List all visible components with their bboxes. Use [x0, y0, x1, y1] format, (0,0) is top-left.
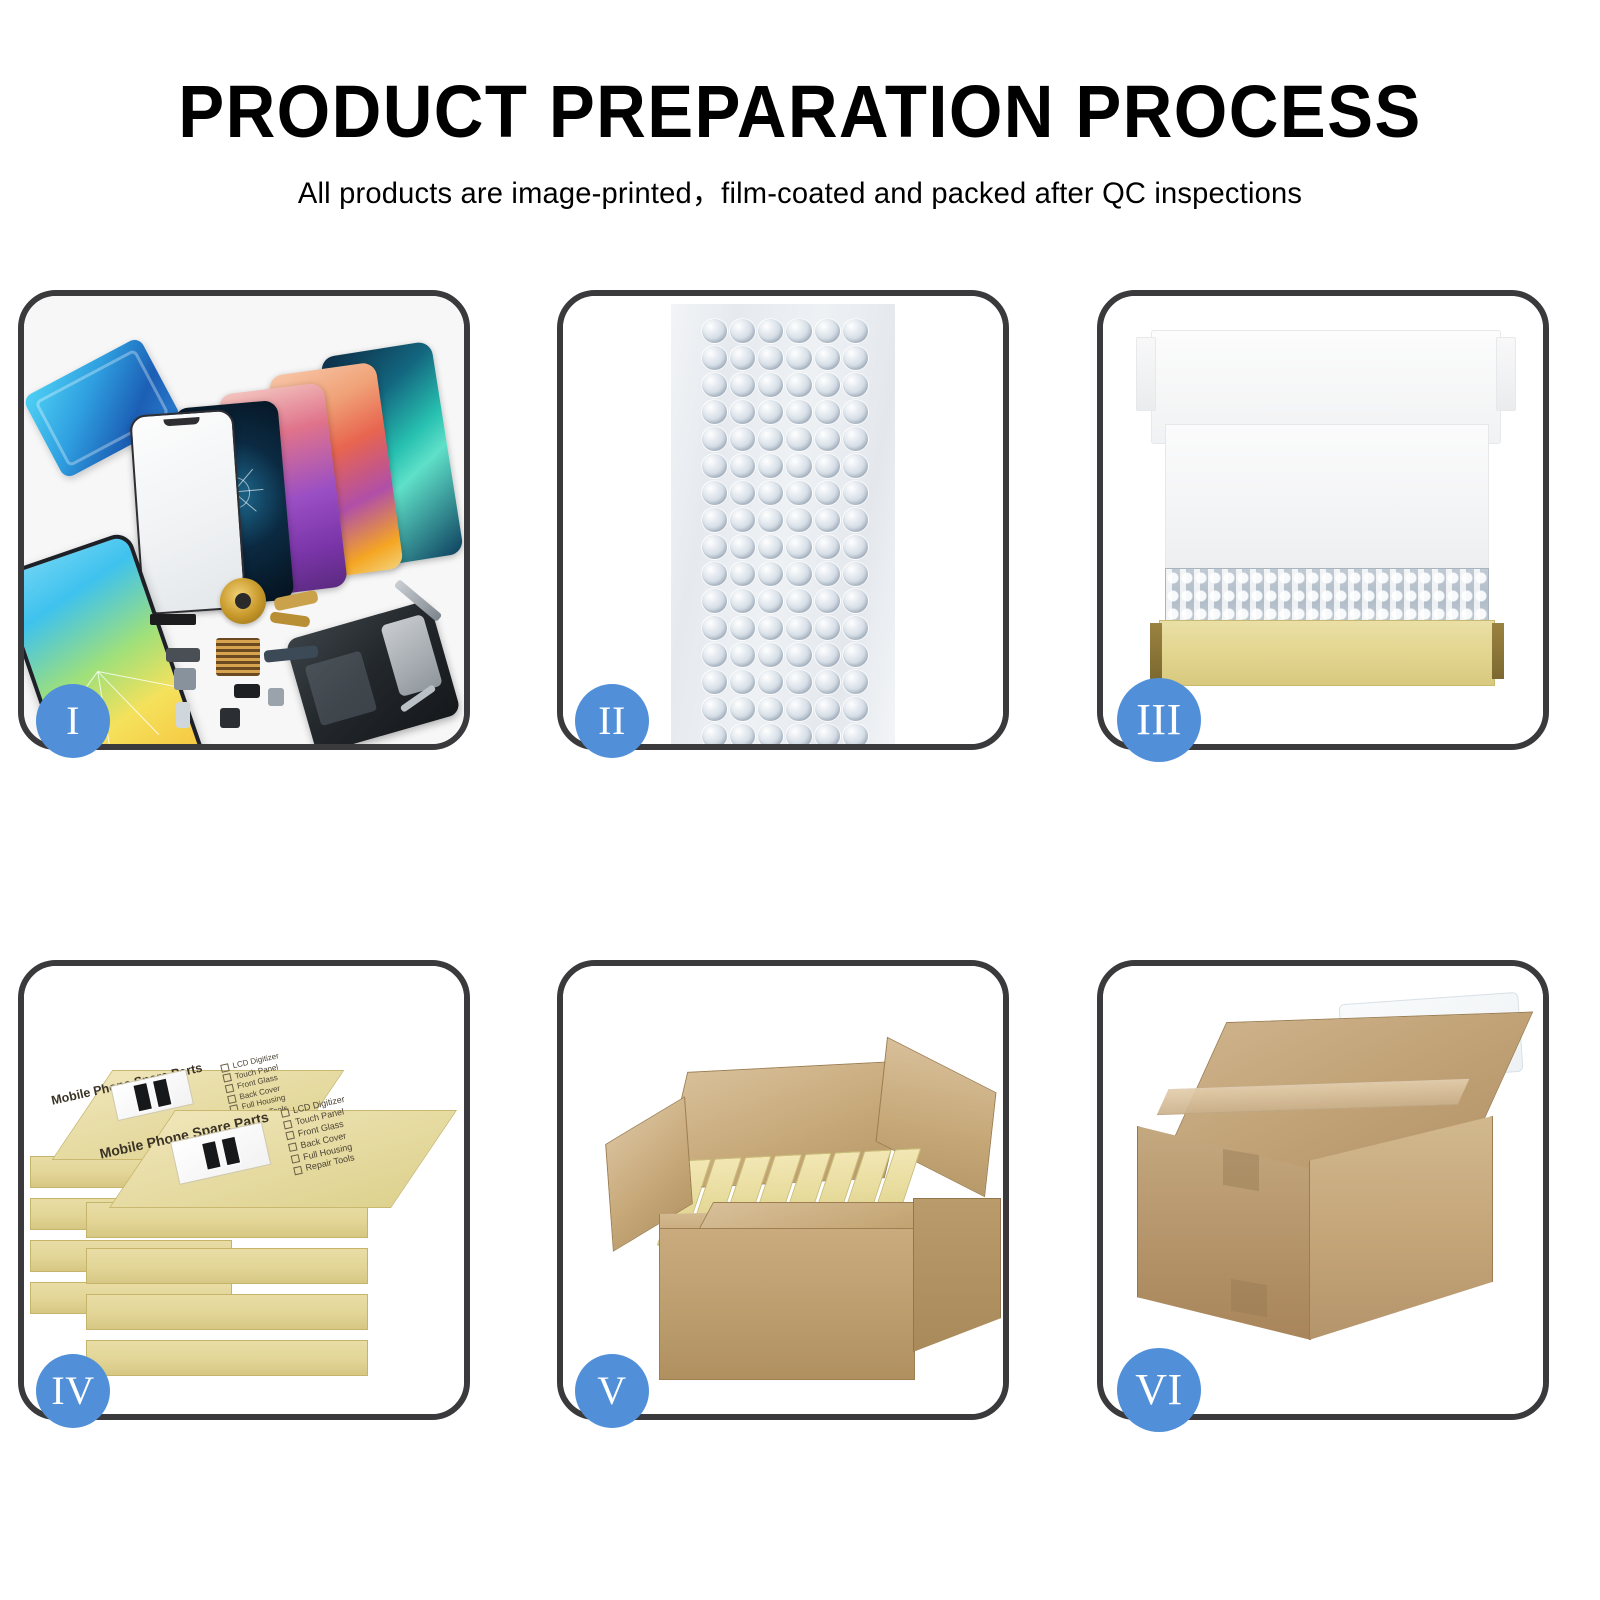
bubble-cell — [842, 318, 869, 344]
phone-parts-collage — [24, 296, 464, 744]
bubble-cell — [814, 318, 841, 344]
bubble-cell — [785, 426, 812, 452]
bubble-cell — [842, 615, 869, 641]
bubble-cell — [814, 723, 841, 744]
bubble-cell — [785, 615, 812, 641]
retail-box-front-2 — [86, 1248, 368, 1284]
bubble-cell — [701, 642, 728, 668]
bubble-cell — [785, 642, 812, 668]
bubble-grid — [701, 318, 869, 738]
bubble-cell — [842, 642, 869, 668]
bubble-cell — [701, 426, 728, 452]
bubble-cell — [814, 480, 841, 506]
bubble-cell — [729, 642, 756, 668]
bubble-cell — [729, 669, 756, 695]
bubble-cell — [757, 642, 784, 668]
bubble-cell — [729, 507, 756, 533]
step-panel-3[interactable]: III — [1097, 290, 1549, 750]
bubble-cell — [729, 372, 756, 398]
bubble-cell — [785, 453, 812, 479]
bubble-cell — [757, 399, 784, 425]
bubble-cell — [757, 561, 784, 587]
bubble-cell — [785, 507, 812, 533]
step-panel-1[interactable]: I — [18, 290, 470, 750]
step-badge-3: III — [1117, 678, 1201, 762]
step-badge-6: VI — [1117, 1348, 1201, 1432]
bubble-cell — [842, 480, 869, 506]
bubble-cell — [842, 561, 869, 587]
step-image-2 — [563, 296, 1003, 744]
bubble-cell — [729, 399, 756, 425]
bubble-cell — [814, 588, 841, 614]
page-header: PRODUCT PREPARATION PROCESS All products… — [0, 0, 1600, 250]
bubble-cell — [814, 372, 841, 398]
bubble-cell — [729, 615, 756, 641]
step-image-4: Mobile Phone Spare Parts LCD DigitizerTo… — [24, 966, 464, 1414]
bubble-cell — [729, 426, 756, 452]
bubble-cell — [701, 372, 728, 398]
bubble-cell — [757, 615, 784, 641]
step-numeral-6: VI — [1135, 1368, 1182, 1412]
bubble-cell — [701, 480, 728, 506]
step-numeral-4: IV — [51, 1371, 94, 1411]
small-part-5 — [220, 708, 240, 728]
bubble-cell — [814, 426, 841, 452]
bubble-cell — [729, 561, 756, 587]
step-numeral-1: I — [66, 701, 80, 741]
bubble-cell — [701, 723, 728, 744]
carton-front-face — [659, 1228, 915, 1380]
step-panel-6[interactable]: VI — [1097, 960, 1549, 1420]
step-badge-2: II — [575, 684, 649, 758]
mailer-box-interior — [1165, 424, 1489, 574]
bubble-cell — [842, 399, 869, 425]
plastic-pouch — [671, 304, 895, 744]
step-panel-2[interactable]: II — [557, 290, 1009, 750]
step-image-6 — [1103, 966, 1543, 1414]
step-image-1 — [24, 296, 464, 744]
bubble-cell — [701, 318, 728, 344]
bubble-cell — [785, 345, 812, 371]
bubble-cell — [701, 534, 728, 560]
bubble-cell — [785, 318, 812, 344]
sealed-shipping-carton — [1103, 966, 1543, 1414]
bubble-cell — [842, 723, 869, 744]
bubble-cell — [701, 696, 728, 722]
bubble-cell — [842, 669, 869, 695]
bubble-cell — [842, 507, 869, 533]
carton-right-face — [913, 1198, 1001, 1352]
small-part-4 — [268, 688, 284, 706]
small-part-1 — [166, 648, 200, 662]
small-part-2 — [174, 668, 196, 690]
retail-box-front-4 — [86, 1340, 368, 1376]
bubble-cell — [729, 696, 756, 722]
bubble-cell — [785, 696, 812, 722]
step-badge-5: V — [575, 1354, 649, 1428]
bubble-cell — [729, 588, 756, 614]
bubble-cell — [701, 453, 728, 479]
phone-notch-icon — [163, 417, 199, 426]
white-mailer-box-open — [1103, 296, 1543, 744]
page-title: PRODUCT PREPARATION PROCESS — [56, 0, 1544, 146]
stacked-retail-boxes: Mobile Phone Spare Parts LCD DigitizerTo… — [24, 966, 464, 1414]
bubble-cell — [729, 723, 756, 744]
bubble-cell — [757, 696, 784, 722]
bubble-cell — [701, 507, 728, 533]
bubble-cell — [785, 561, 812, 587]
bubble-cell — [729, 318, 756, 344]
bubble-cell — [701, 615, 728, 641]
bubble-cell — [729, 534, 756, 560]
mailer-box-front-panel — [1159, 620, 1495, 686]
bubble-cell — [757, 453, 784, 479]
bubble-cell — [842, 345, 869, 371]
bubble-cell — [785, 669, 812, 695]
bubble-wrapped-product — [1165, 568, 1489, 624]
bubble-cell — [785, 372, 812, 398]
bubble-cell — [701, 588, 728, 614]
step-numeral-5: V — [597, 1371, 626, 1411]
carton-tape-tab-upper — [1223, 1149, 1259, 1191]
bubble-cell — [814, 345, 841, 371]
step-image-3 — [1103, 296, 1543, 744]
bubble-cell — [757, 723, 784, 744]
step-panel-5[interactable]: V — [557, 960, 1009, 1420]
bubble-cell — [701, 669, 728, 695]
step-badge-1: I — [36, 684, 110, 758]
step-numeral-3: III — [1136, 698, 1181, 742]
bubble-cell — [785, 399, 812, 425]
bubble-cell — [701, 345, 728, 371]
bubble-cell — [842, 696, 869, 722]
bubble-cell — [701, 561, 728, 587]
bubble-cell — [757, 318, 784, 344]
step-panel-4[interactable]: Mobile Phone Spare Parts LCD DigitizerTo… — [18, 960, 470, 1420]
bubble-cell — [757, 372, 784, 398]
bubble-cell — [814, 669, 841, 695]
bubble-cell — [757, 507, 784, 533]
bubble-cell — [814, 561, 841, 587]
bubble-cell — [842, 588, 869, 614]
phone-back-housing — [285, 600, 462, 744]
page-subtitle: All products are image-printed，film-coat… — [24, 146, 1576, 212]
bubble-cell — [842, 426, 869, 452]
bubble-cell — [814, 696, 841, 722]
wireless-charging-coil — [220, 578, 266, 624]
bubble-cell — [814, 453, 841, 479]
bubble-cell — [814, 615, 841, 641]
small-part-3 — [234, 684, 260, 698]
bubble-cell — [757, 534, 784, 560]
retail-box-checklist-front: LCD DigitizerTouch PanelFront GlassBack … — [280, 1094, 359, 1178]
bubble-cell — [729, 453, 756, 479]
bubble-cell — [701, 399, 728, 425]
bubble-cell — [757, 426, 784, 452]
retail-box-front-3 — [86, 1294, 368, 1330]
bubble-cell — [757, 669, 784, 695]
carton-tape-tab-lower — [1231, 1279, 1267, 1317]
bubble-cell — [814, 507, 841, 533]
bubble-cell — [842, 372, 869, 398]
step-image-5 — [563, 966, 1003, 1414]
open-shipping-carton — [563, 966, 1003, 1414]
bubble-cell — [814, 642, 841, 668]
bubble-cell — [785, 723, 812, 744]
process-steps-grid: I II III — [18, 290, 1582, 1440]
bubble-cell — [814, 399, 841, 425]
bubble-cell — [785, 588, 812, 614]
step-badge-4: IV — [36, 1354, 110, 1428]
ic-chip-part — [216, 638, 260, 676]
bubble-cell — [729, 345, 756, 371]
flex-cable-part-b — [269, 611, 310, 627]
bubble-cell — [757, 588, 784, 614]
bubble-cell — [785, 480, 812, 506]
step-numeral-2: II — [598, 701, 626, 741]
bubble-cell — [785, 534, 812, 560]
bubble-cell — [842, 534, 869, 560]
bubble-cell — [814, 534, 841, 560]
bubble-cell — [842, 453, 869, 479]
bubble-cell — [729, 480, 756, 506]
bubble-wrap-pouch — [563, 296, 1003, 744]
earpiece-speaker-part — [150, 614, 196, 625]
bubble-cell — [757, 480, 784, 506]
bubble-cell — [757, 345, 784, 371]
sim-tray-part — [176, 702, 190, 728]
